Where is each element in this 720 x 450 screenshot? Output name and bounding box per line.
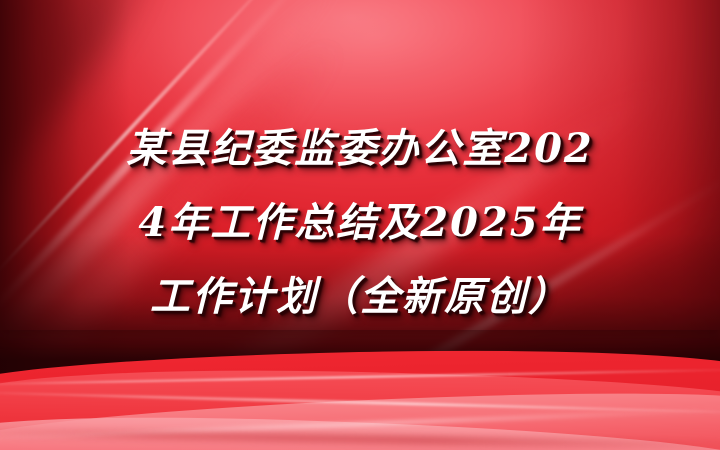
- title-banner: 某县纪委监委办公室202 4年工作总结及2025年 工作计划（全新原创）: [0, 0, 720, 450]
- bottom-silk-waves: [0, 330, 720, 450]
- title-line-1: 某县纪委监委办公室202: [0, 112, 720, 186]
- poster-title: 某县纪委监委办公室202 4年工作总结及2025年 工作计划（全新原创）: [0, 112, 720, 334]
- title-line-2: 4年工作总结及2025年: [0, 186, 720, 260]
- title-line-3: 工作计划（全新原创）: [0, 260, 720, 334]
